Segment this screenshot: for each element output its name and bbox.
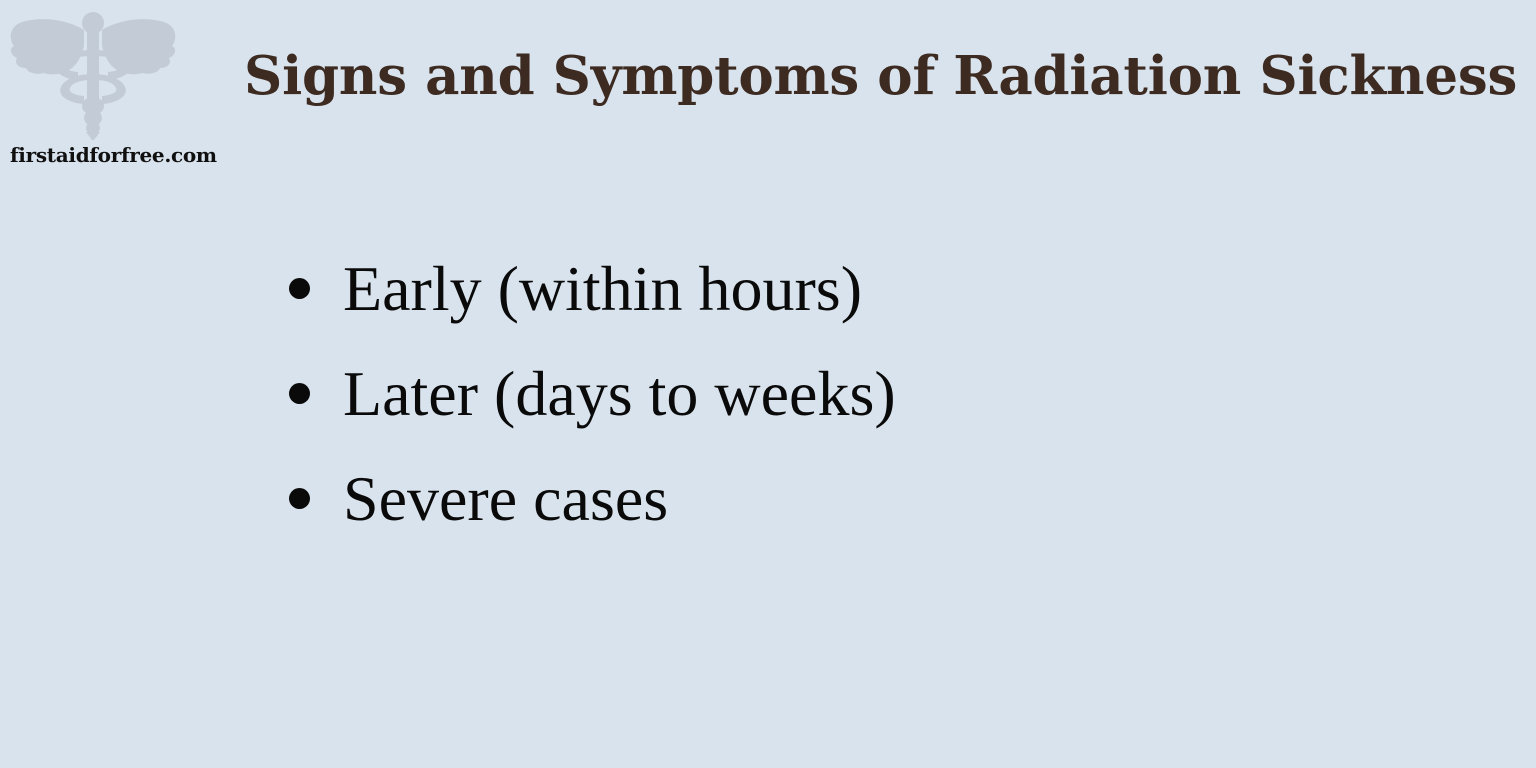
list-item: Early (within hours) (280, 236, 1430, 341)
page-title: Signs and Symptoms of Radiation Sickness (244, 44, 1424, 108)
symptom-list: Early (within hours) Later (days to week… (280, 236, 1430, 551)
bullet-icon (289, 383, 310, 404)
list-item-label: Early (within hours) (343, 254, 862, 324)
list-item-label: Severe cases (343, 464, 668, 534)
list-item: Later (days to weeks) (280, 341, 1430, 446)
caduceus-icon (8, 8, 178, 140)
brand-block: firstaidforfree.com (0, 0, 200, 180)
list-item-label: Later (days to weeks) (343, 359, 896, 429)
list-item: Severe cases (280, 446, 1430, 551)
bullet-icon (289, 278, 310, 299)
slide: firstaidforfree.com Signs and Symptoms o… (0, 0, 1536, 768)
bullet-icon (289, 488, 310, 509)
site-url: firstaidforfree.com (10, 143, 200, 167)
